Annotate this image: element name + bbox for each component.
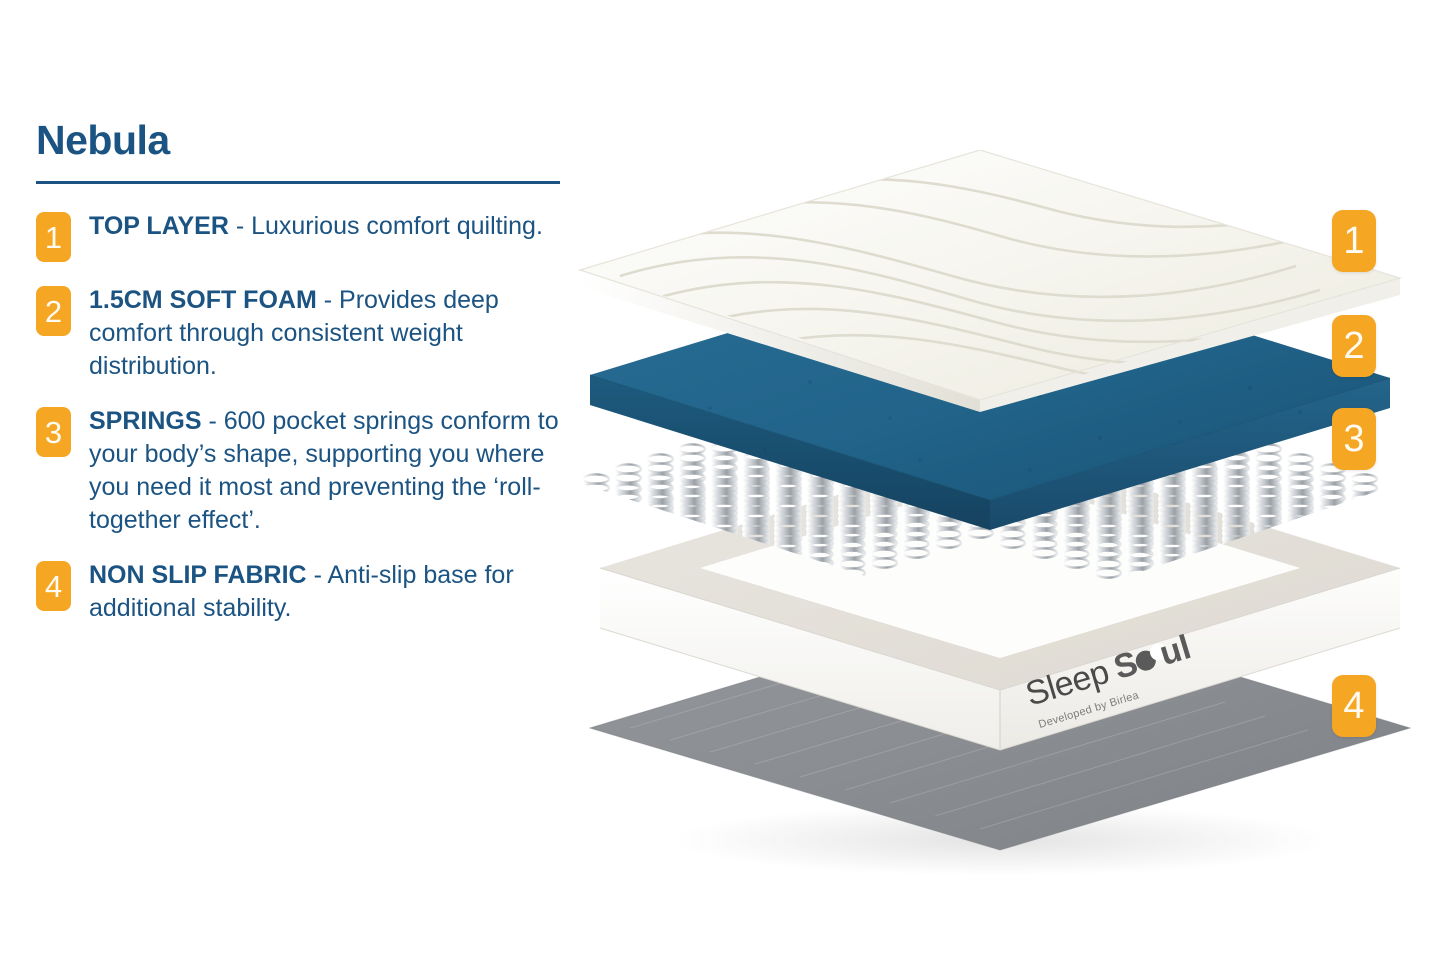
diagram-badge-1: 1	[1332, 210, 1376, 272]
product-layer-diagram: Nebula 1 TOP LAYER - Luxurious comfort q…	[0, 0, 1445, 965]
feature-list: 1 TOP LAYER - Luxurious comfort quilting…	[36, 210, 576, 625]
feature-text-4: NON SLIP FABRIC - Anti-slip base for add…	[89, 559, 559, 625]
feature-badge-3: 3	[36, 407, 71, 457]
feature-text-3: SPRINGS - 600 pocket springs conform to …	[89, 405, 559, 537]
feature-badge-4: 4	[36, 561, 71, 611]
mattress-exploded-illustration: Sleep S ul Developed by Birlea	[560, 150, 1440, 890]
list-item: 4 NON SLIP FABRIC - Anti-slip base for a…	[36, 559, 576, 625]
title-divider	[36, 181, 560, 184]
feature-lead-1: TOP LAYER	[89, 212, 229, 240]
diagram-badge-2: 2	[1332, 315, 1376, 377]
list-item: 3 SPRINGS - 600 pocket springs conform t…	[36, 405, 576, 537]
feature-text-1: TOP LAYER - Luxurious comfort quilting.	[89, 210, 543, 243]
feature-badge-1: 1	[36, 212, 71, 262]
feature-lead-3: SPRINGS	[89, 407, 202, 435]
feature-badge-2: 2	[36, 286, 71, 336]
list-item: 1 TOP LAYER - Luxurious comfort quilting…	[36, 210, 576, 262]
diagram-badge-4: 4	[1332, 675, 1376, 737]
diagram-badge-3: 3	[1332, 408, 1376, 470]
text-panel: Nebula 1 TOP LAYER - Luxurious comfort q…	[36, 120, 576, 647]
list-item: 2 1.5CM SOFT FOAM - Provides deep comfor…	[36, 284, 576, 383]
feature-lead-4: NON SLIP FABRIC	[89, 561, 307, 589]
mattress-layers-svg: Sleep S ul Developed by Birlea	[560, 150, 1440, 890]
feature-rest-1: - Luxurious comfort quilting.	[229, 212, 543, 240]
feature-text-2: 1.5CM SOFT FOAM - Provides deep comfort …	[89, 284, 559, 383]
feature-lead-2: 1.5CM SOFT FOAM	[89, 286, 317, 314]
page-title: Nebula	[36, 120, 576, 161]
